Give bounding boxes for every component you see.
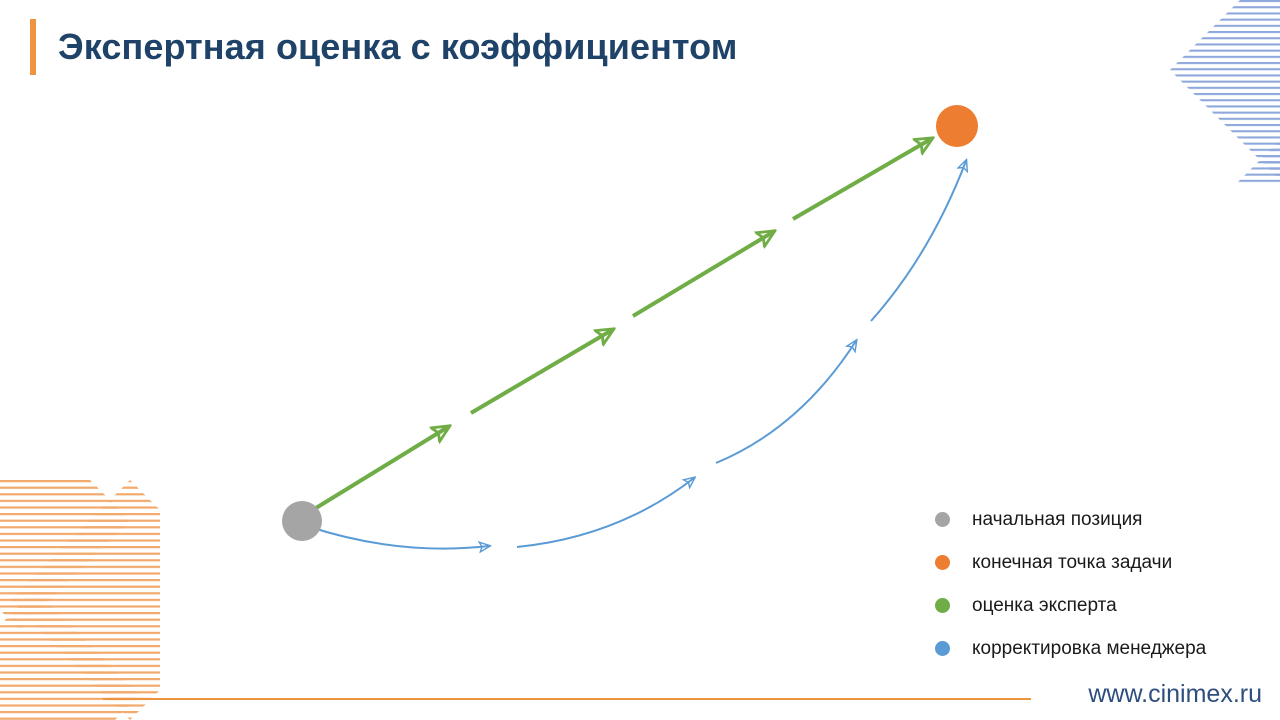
legend-dot-gray-icon [935, 512, 950, 527]
footer-divider [103, 698, 1031, 700]
legend-dot-blue-icon [935, 641, 950, 656]
legend-item-start: начальная позиция [935, 498, 1265, 541]
legend-label-end: конечная точка задачи [972, 552, 1172, 574]
legend-item-manager: корректировка менеджера [935, 627, 1265, 670]
manager-correction-path [310, 161, 966, 549]
expert-estimate-path [316, 139, 931, 508]
legend: начальная позиция конечная точка задачи … [935, 498, 1265, 670]
legend-item-expert: оценка эксперта [935, 584, 1265, 627]
legend-item-end: конечная точка задачи [935, 541, 1265, 584]
footer-website-url: www.cinimex.ru [1088, 680, 1262, 709]
legend-dot-orange-icon [935, 555, 950, 570]
legend-dot-green-icon [935, 598, 950, 613]
legend-label-expert: оценка эксперта [972, 595, 1117, 617]
start-node [282, 501, 322, 541]
legend-label-manager: корректировка менеджера [972, 638, 1206, 660]
end-node [936, 105, 978, 147]
legend-label-start: начальная позиция [972, 509, 1142, 531]
slide-canvas: Экспертная оценка с коэффициентом [0, 0, 1280, 720]
